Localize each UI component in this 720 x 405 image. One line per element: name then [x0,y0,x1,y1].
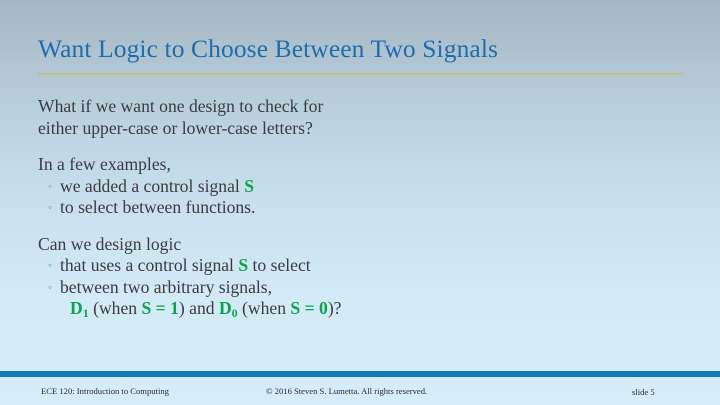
signal-d0-subscript: 0 [232,306,238,320]
slide-canvas: Want Logic to Choose Between Two Signals… [0,0,720,405]
bullet-circle-icon: ◦ [48,277,60,299]
page-title: Want Logic to Choose Between Two Signals [38,34,684,64]
signal-d0-base: D [219,298,232,318]
list-item-label: that uses a control signal S to select [60,255,311,277]
list-item: ◦ between two arbitrary signals, [38,277,678,299]
list-item-label: we added a control signal S [60,176,254,198]
list-item-label: to select between functions. [60,197,255,219]
signal-d0-token: D0 [219,298,238,318]
paragraph-intro-line1: What if we want one design to check for [38,96,678,118]
list-item: ◦ to select between functions. [38,197,678,219]
signal-d1-base: D [70,298,83,318]
list-item: ◦ that uses a control signal S to select [38,255,678,277]
signal-definition-line: D1 (when S = 1) and D0 (when S = 0)? [38,298,678,322]
bullet-circle-icon: ◦ [48,176,60,198]
list-item-label: between two arbitrary signals, [60,277,272,299]
signal-d1-token: D1 [70,298,89,318]
subline-text-2: ) and [179,298,219,318]
bullet-circle-icon: ◦ [48,197,60,219]
spacer [38,139,678,154]
subline-text-4: )? [328,298,342,318]
paragraph-question-heading: Can we design logic [38,234,678,256]
spacer [38,219,678,234]
title-divider-rule [38,73,683,75]
footer-course-label: ECE 120: Introduction to Computing [41,386,169,396]
signal-s-token: S [244,176,254,196]
list-item-text-post: to select [248,255,311,275]
subline-text-3: (when [238,298,291,318]
signal-s-token: S [238,255,248,275]
signal-s-equals-0: S = 0 [290,298,327,318]
list-item-text-pre: that uses a control signal [60,255,238,275]
list-item: ◦ we added a control signal S [38,176,678,198]
title-block: Want Logic to Choose Between Two Signals [38,34,684,64]
slide-footer: ECE 120: Introduction to Computing © 201… [0,377,720,405]
slide-body: What if we want one design to check for … [38,96,678,322]
subline-text-1: (when [89,298,142,318]
paragraph-intro-line2: either upper-case or lower-case letters? [38,118,678,140]
signal-s-equals-1: S = 1 [141,298,178,318]
footer-slide-number: slide 5 [632,387,655,397]
paragraph-examples-heading: In a few examples, [38,154,678,176]
signal-d1-subscript: 1 [83,306,89,320]
bullet-circle-icon: ◦ [48,255,60,277]
footer-copyright-label: © 2016 Steven S. Lumetta. All rights res… [266,386,427,396]
list-item-text: we added a control signal [60,176,244,196]
